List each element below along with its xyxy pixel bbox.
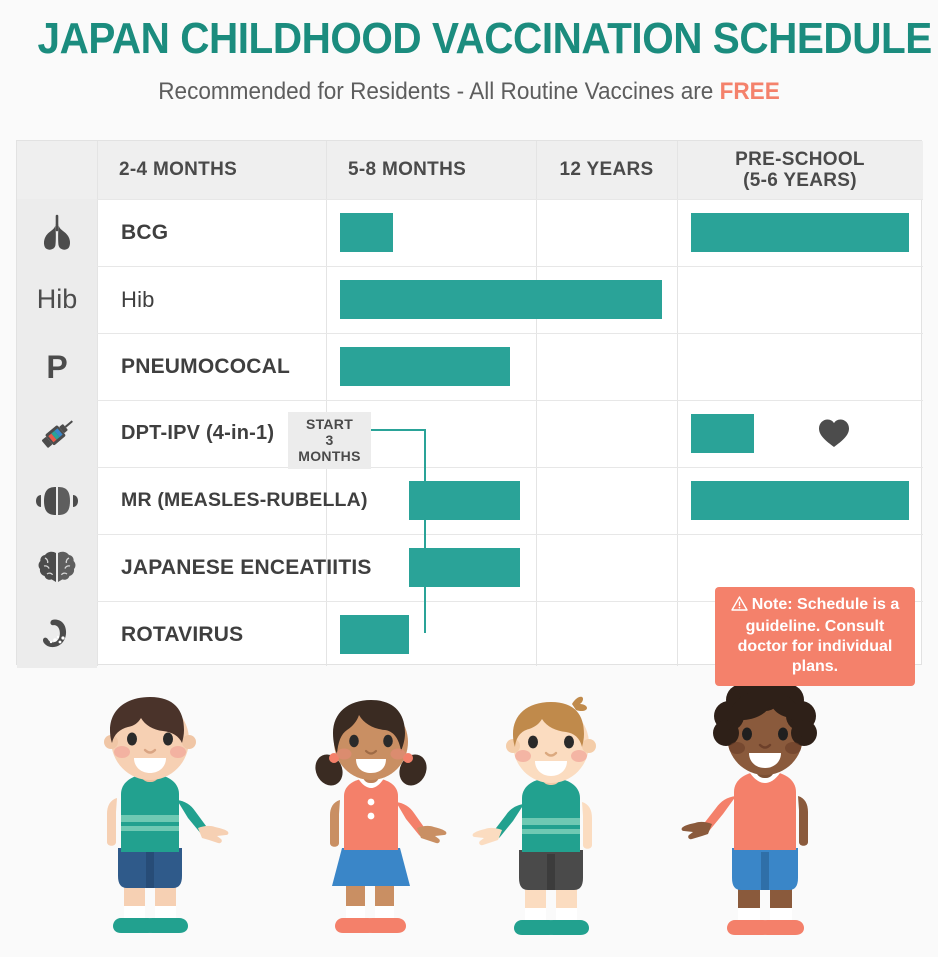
bar-mr-pre-school (691, 481, 909, 520)
hib-icon-label: Hib (37, 286, 78, 313)
pneumococcal-icon-label: P (46, 351, 67, 383)
table-header-corner (17, 141, 97, 199)
column-header-pre-school: PRE-SCHOOL (5-6 YEARS) (677, 141, 923, 199)
table-row-hib: Hib Hib (17, 266, 923, 333)
heart-icon (818, 418, 850, 453)
children-illustration (0, 672, 938, 957)
column-header-pre-school-line1: PRE-SCHOOL (735, 149, 865, 170)
column-header-12-years: 12 YEARS (536, 141, 677, 199)
stomach-icon (17, 601, 97, 668)
infographic-page: JAPAN CHILDHOOD VACCINATION SCHEDULE Rec… (0, 0, 938, 957)
vaccine-label-rotavirus: ROTAVIRUS (97, 601, 326, 668)
note-box: Note: Schedule is a guideline. Consult d… (715, 587, 915, 686)
bar-pneumococal-2-4-months (340, 347, 510, 386)
subtitle-free-badge: FREE (720, 78, 780, 105)
warning-triangle-icon (731, 596, 748, 617)
table-row-bcg: BCG (17, 199, 923, 266)
column-header-pre-school-line2: (5-6 YEARS) (735, 170, 865, 191)
child-4 (660, 678, 850, 957)
column-header-5-8-months: 5-8 MONTHS (326, 141, 536, 199)
child-3 (452, 690, 632, 957)
page-subtitle: Recommended for Residents - All Routine … (28, 78, 910, 106)
start-badge: START 3 MONTHS (288, 412, 371, 469)
bar-bcg-2-4-months (340, 213, 393, 252)
table-row-mr: MR (MEASLES-RUBELLA) (17, 467, 923, 534)
vaccine-label-bcg: BCG (97, 199, 326, 266)
vaccine-label-hib: Hib (97, 266, 326, 333)
column-header-12-years-label: 12 YEARS (560, 159, 654, 180)
bar-rotavirus-2-4-months (340, 615, 409, 654)
hib-text-icon: Hib (17, 266, 97, 333)
start-connector-vertical (424, 429, 426, 633)
start-connector-horizontal (370, 429, 426, 431)
table-row-pneumococal: P PNEUMOCOCAL (17, 333, 923, 400)
bar-dpt-ipv-pre-school (691, 414, 754, 453)
vaccine-label-mr: MR (MEASLES-RUBELLA) (97, 467, 326, 534)
table-row-dpt-ipv: DPT-IPV (4-in-1) (17, 400, 923, 467)
vaccine-label-japanese-enceatiitis: JAPANESE ENCEATIITIS (97, 534, 326, 601)
child-1 (60, 682, 240, 957)
ear-icon (17, 467, 97, 534)
column-header-2-4-months: 2-4 MONTHS (97, 141, 326, 199)
bar-bcg-pre-school (691, 213, 909, 252)
vaccine-label-pneumococal: PNEUMOCOCAL (97, 333, 326, 400)
schedule-table: 2-4 MONTHS 5-8 MONTHS 12 YEARS PRE-SCHOO… (16, 140, 922, 665)
note-text: Note: Schedule is a guideline. Consult d… (738, 596, 900, 675)
start-badge-line1: START (298, 416, 361, 432)
start-badge-line2: 3 MONTHS (298, 432, 361, 464)
child-2 (286, 688, 456, 957)
page-title: JAPAN CHILDHOOD VACCINATION SCHEDULE (38, 14, 901, 64)
syringe-icon (17, 400, 97, 467)
pneumococcal-letter-icon: P (17, 333, 97, 400)
lungs-icon (17, 199, 97, 266)
brain-icon (17, 534, 97, 601)
subtitle-text: Recommended for Residents - All Routine … (158, 78, 719, 105)
bar-hib-2-4-to-5-8-months (340, 280, 662, 319)
